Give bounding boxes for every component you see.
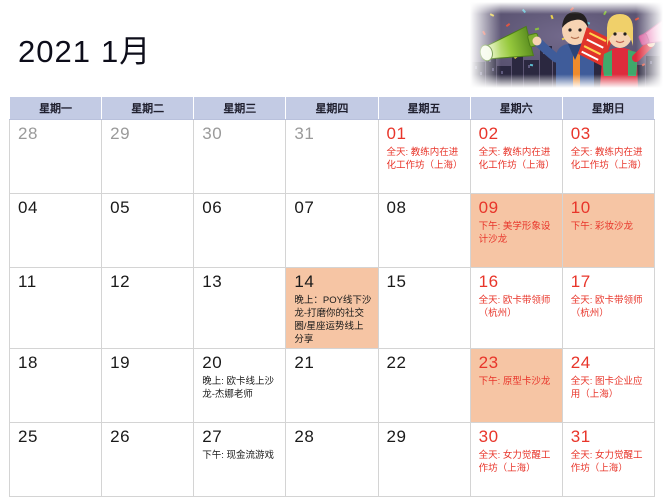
calendar-day-cell[interactable]: 03全天: 教练内在进化工作坊（上海）	[562, 120, 654, 194]
day-number: 20	[202, 353, 280, 372]
day-number: 30	[479, 427, 557, 446]
calendar-day-cell[interactable]: 19	[102, 349, 194, 423]
day-number: 14	[294, 272, 372, 291]
calendar-day-cell[interactable]: 27下午: 现金流游戏	[194, 423, 286, 497]
day-number: 15	[387, 272, 465, 291]
day-event-text[interactable]: 全天: 教练内在进化工作坊（上海）	[571, 146, 649, 172]
calendar-day-cell[interactable]: 31	[286, 120, 378, 194]
day-number: 03	[571, 124, 649, 143]
weekday-header-thu: 星期四	[286, 97, 378, 120]
celebration-megaphone-illustration	[470, 2, 663, 88]
calendar-day-cell[interactable]: 17全天: 欧卡带领师（杭州）	[562, 268, 654, 349]
calendar-day-cell[interactable]: 13	[194, 268, 286, 349]
day-event-text[interactable]: 全天: 教练内在进化工作坊（上海）	[387, 146, 465, 172]
day-number: 05	[110, 198, 188, 217]
day-event-text[interactable]: 全天: 教练内在进化工作坊（上海）	[479, 146, 557, 172]
title-year: 2021	[18, 34, 91, 69]
day-number: 10	[571, 198, 649, 217]
calendar-body: 2829303101全天: 教练内在进化工作坊（上海）02全天: 教练内在进化工…	[10, 120, 655, 497]
calendar-day-cell[interactable]: 18	[10, 349, 102, 423]
day-event-text[interactable]: 下午: 原型卡沙龙	[479, 375, 557, 388]
weekday-header-sat: 星期六	[470, 97, 562, 120]
day-number: 16	[479, 272, 557, 291]
day-number: 22	[387, 353, 465, 372]
calendar-day-cell[interactable]: 30全天: 女力觉醒工作坊（上海）	[470, 423, 562, 497]
calendar-week-row: 181920晚上: 欧卡线上沙龙-杰娜老师212223下午: 原型卡沙龙24全天…	[10, 349, 655, 423]
day-number: 24	[571, 353, 649, 372]
day-number: 29	[387, 427, 465, 446]
day-number: 01	[387, 124, 465, 143]
calendar-day-cell[interactable]: 12	[102, 268, 194, 349]
page-title: 20211月	[18, 26, 151, 71]
day-number: 12	[110, 272, 188, 291]
calendar-day-cell[interactable]: 14晚上：POY线下沙龙-打磨你的社交圈/星座运势线上分享	[286, 268, 378, 349]
day-event-text[interactable]: 全天: 图卡企业应用（上海）	[571, 375, 649, 401]
calendar-day-cell[interactable]: 09下午: 美学形象设计沙龙	[470, 194, 562, 268]
calendar-day-cell[interactable]: 25	[10, 423, 102, 497]
calendar-grid: 星期一 星期二 星期三 星期四 星期五 星期六 星期日 2829303101全天…	[9, 96, 655, 497]
calendar-day-cell[interactable]: 04	[10, 194, 102, 268]
day-number: 18	[18, 353, 96, 372]
calendar-week-row: 040506070809下午: 美学形象设计沙龙10下午: 彩妆沙龙	[10, 194, 655, 268]
calendar-day-cell[interactable]: 05	[102, 194, 194, 268]
weekday-header-tue: 星期二	[102, 97, 194, 120]
calendar-day-cell[interactable]: 08	[378, 194, 470, 268]
title-month: 1月	[101, 34, 151, 69]
day-number: 31	[294, 124, 372, 143]
day-number: 28	[294, 427, 372, 446]
day-number: 06	[202, 198, 280, 217]
day-event-text[interactable]: 全天: 女力觉醒工作坊（上海）	[479, 449, 557, 475]
calendar-day-cell[interactable]: 22	[378, 349, 470, 423]
day-event-text[interactable]: 下午: 美学形象设计沙龙	[479, 220, 557, 246]
weekday-header-fri: 星期五	[378, 97, 470, 120]
calendar-day-cell[interactable]: 02全天: 教练内在进化工作坊（上海）	[470, 120, 562, 194]
day-number: 31	[571, 427, 649, 446]
day-event-text[interactable]: 晚上：POY线下沙龙-打磨你的社交圈/星座运势线上分享	[294, 294, 372, 346]
weekday-header-wed: 星期三	[194, 97, 286, 120]
calendar-day-cell[interactable]: 15	[378, 268, 470, 349]
day-event-text[interactable]: 晚上: 欧卡线上沙龙-杰娜老师	[202, 375, 280, 401]
calendar-day-cell[interactable]: 30	[194, 120, 286, 194]
calendar-day-cell[interactable]: 31全天: 女力觉醒工作坊（上海）	[562, 423, 654, 497]
weekday-header-sun: 星期日	[562, 97, 654, 120]
calendar-day-cell[interactable]: 11	[10, 268, 102, 349]
calendar-page: 20211月	[0, 0, 663, 446]
calendar-day-cell[interactable]: 28	[286, 423, 378, 497]
calendar-day-cell[interactable]: 29	[102, 120, 194, 194]
calendar-header: 20211月	[0, 0, 663, 96]
weekday-header-mon: 星期一	[10, 97, 102, 120]
day-number: 27	[202, 427, 280, 446]
day-number: 28	[18, 124, 96, 143]
calendar-day-cell[interactable]: 26	[102, 423, 194, 497]
calendar-week-row: 2829303101全天: 教练内在进化工作坊（上海）02全天: 教练内在进化工…	[10, 120, 655, 194]
day-number: 19	[110, 353, 188, 372]
day-number: 08	[387, 198, 465, 217]
calendar-day-cell[interactable]: 24全天: 图卡企业应用（上海）	[562, 349, 654, 423]
day-number: 09	[479, 198, 557, 217]
calendar-day-cell[interactable]: 21	[286, 349, 378, 423]
day-number: 30	[202, 124, 280, 143]
calendar-day-cell[interactable]: 07	[286, 194, 378, 268]
day-event-text[interactable]: 全天: 欧卡带领师（杭州）	[479, 294, 557, 320]
day-number: 07	[294, 198, 372, 217]
calendar-day-cell[interactable]: 01全天: 教练内在进化工作坊（上海）	[378, 120, 470, 194]
day-number: 02	[479, 124, 557, 143]
day-event-text[interactable]: 全天: 女力觉醒工作坊（上海）	[571, 449, 649, 475]
day-number: 17	[571, 272, 649, 291]
calendar-day-cell[interactable]: 10下午: 彩妆沙龙	[562, 194, 654, 268]
day-number: 26	[110, 427, 188, 446]
calendar-day-cell[interactable]: 06	[194, 194, 286, 268]
calendar-day-cell[interactable]: 28	[10, 120, 102, 194]
calendar-day-cell[interactable]: 20晚上: 欧卡线上沙龙-杰娜老师	[194, 349, 286, 423]
day-number: 13	[202, 272, 280, 291]
day-number: 25	[18, 427, 96, 446]
weekday-header-row: 星期一 星期二 星期三 星期四 星期五 星期六 星期日	[10, 97, 655, 120]
calendar-day-cell[interactable]: 29	[378, 423, 470, 497]
day-event-text[interactable]: 下午: 现金流游戏	[202, 449, 280, 462]
calendar-day-cell[interactable]: 23下午: 原型卡沙龙	[470, 349, 562, 423]
day-number: 04	[18, 198, 96, 217]
calendar-day-cell[interactable]: 16全天: 欧卡带领师（杭州）	[470, 268, 562, 349]
calendar-week-row: 252627下午: 现金流游戏282930全天: 女力觉醒工作坊（上海）31全天…	[10, 423, 655, 497]
day-number: 11	[18, 272, 96, 291]
calendar-week-row: 11121314晚上：POY线下沙龙-打磨你的社交圈/星座运势线上分享1516全…	[10, 268, 655, 349]
day-event-text[interactable]: 全天: 欧卡带领师（杭州）	[571, 294, 649, 320]
day-number: 21	[294, 353, 372, 372]
day-number: 29	[110, 124, 188, 143]
day-number: 23	[479, 353, 557, 372]
day-event-text[interactable]: 下午: 彩妆沙龙	[571, 220, 649, 233]
